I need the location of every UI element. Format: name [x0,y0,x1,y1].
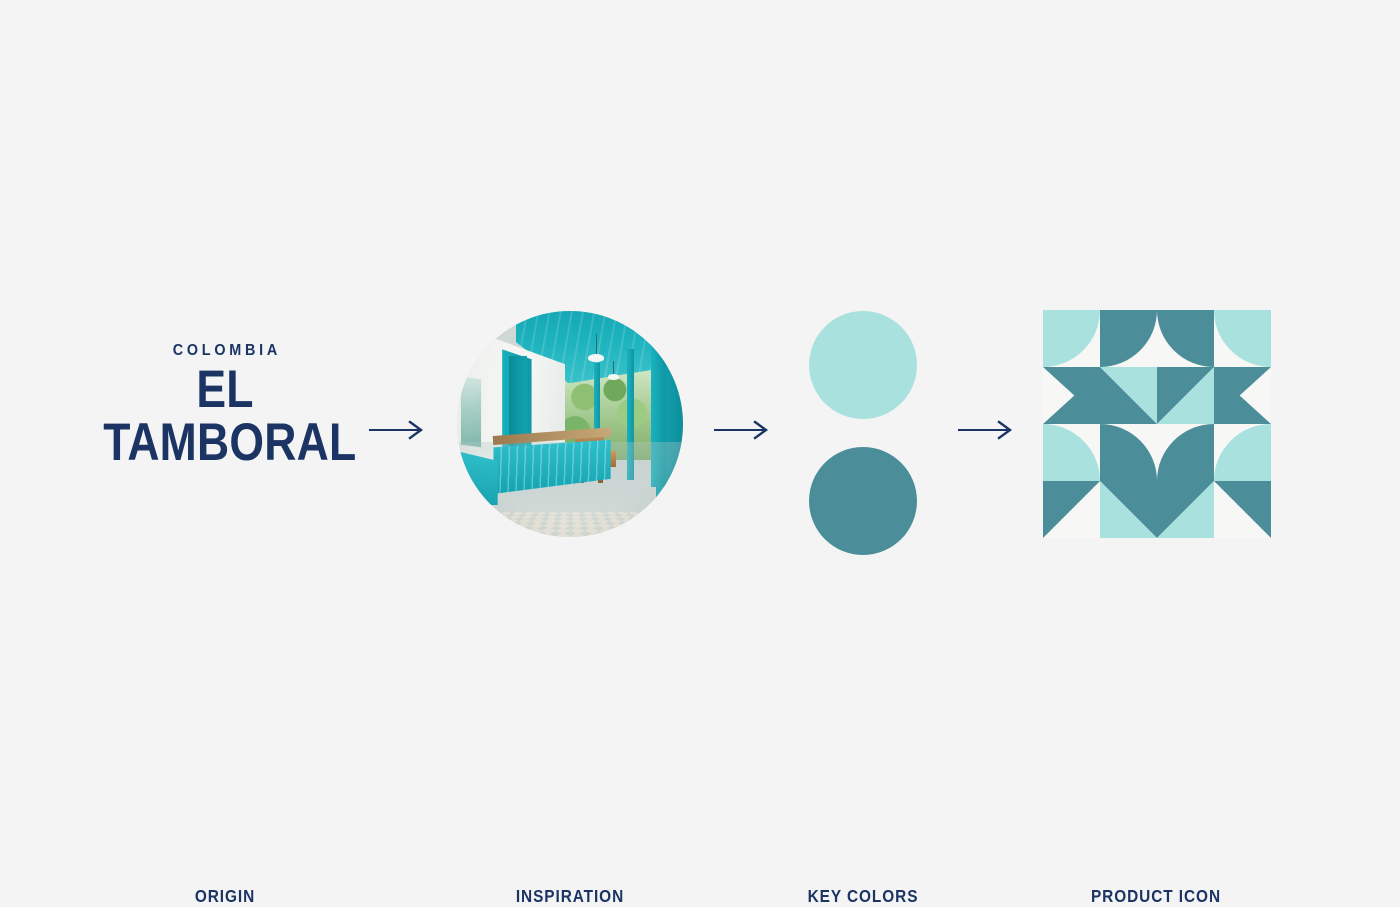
arrow-right-icon [958,418,1014,442]
stage-product-icon: PRODUCT ICON [1011,300,1301,600]
quarter-circle-shape [1157,424,1214,481]
quarter-circle-shape [1043,424,1100,481]
icon-cell-r2c4 [1214,367,1271,424]
icon-cell-r1c1 [1043,310,1100,367]
origin-country-label: COLOMBIA [95,342,356,360]
icon-cell-r3c1 [1043,424,1100,481]
triangle-shape [1214,481,1271,538]
chevron-shape [1214,367,1271,424]
brand-process-diagram: COLOMBIA EL TAMBORAL ORIGIN [0,0,1400,896]
icon-cell-r4c2 [1100,481,1157,538]
color-swatch-teal [809,447,917,555]
origin-wordmark: COLOMBIA EL TAMBORAL [80,342,370,468]
icon-cell-r1c3 [1157,310,1214,367]
stage-inspiration: INSPIRATION [425,300,715,600]
icon-cell-r2c3 [1157,367,1214,424]
stage-label-inspiration: INSPIRATION [442,886,697,907]
color-swatch-light-aqua [809,311,917,419]
stage-key-colors: KEY COLORS [718,300,1008,600]
inspiration-photo [457,311,683,537]
quarter-circle-shape [1157,310,1214,367]
photo-vignette [457,311,683,537]
quarter-circle-shape [1100,310,1157,367]
icon-cell-r1c4 [1214,310,1271,367]
icon-cell-r2c1 [1043,367,1100,424]
arrow-right-icon [369,418,425,442]
icon-cell-r4c3 [1157,481,1214,538]
photo-scene [457,311,683,537]
icon-cell-r3c3 [1157,424,1214,481]
icon-cell-r3c4 [1214,424,1271,481]
icon-cell-r4c1 [1043,481,1100,538]
stage-label-product-icon: PRODUCT ICON [1028,886,1283,907]
icon-cell-r3c2 [1100,424,1157,481]
icon-cell-r4c4 [1214,481,1271,538]
stage-origin: COLOMBIA EL TAMBORAL ORIGIN [80,300,370,600]
quarter-circle-shape [1214,310,1271,367]
origin-name-line-2: TAMBORAL [103,419,347,468]
product-icon-pattern [1043,310,1271,538]
icon-cell-r2c2 [1100,367,1157,424]
triangle-shape [1043,481,1100,538]
origin-name-line-1: EL [103,366,347,415]
stage-label-origin: ORIGIN [97,886,352,907]
icon-cell-r1c2 [1100,310,1157,367]
quarter-circle-shape [1043,310,1100,367]
quarter-circle-shape [1100,424,1157,481]
quarter-circle-shape [1214,424,1271,481]
stage-label-key-colors: KEY COLORS [735,886,990,907]
chevron-shape [1043,367,1100,424]
